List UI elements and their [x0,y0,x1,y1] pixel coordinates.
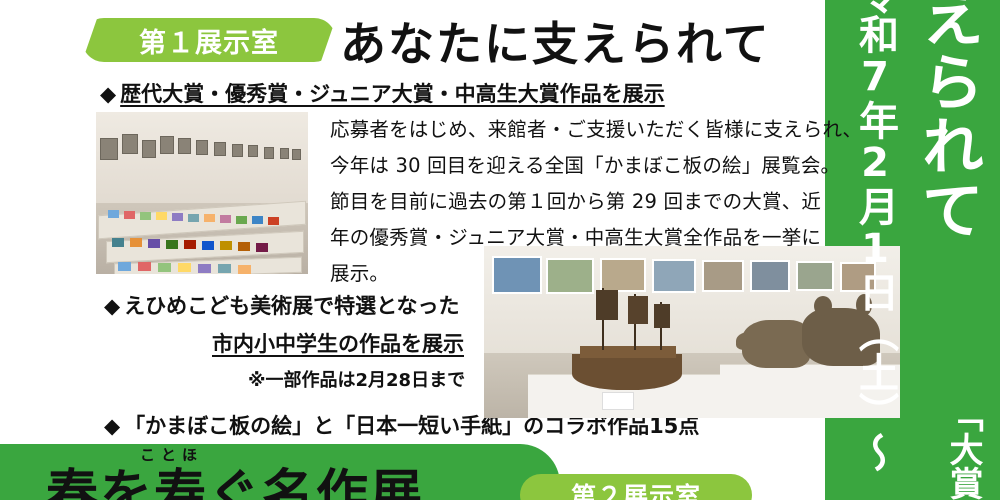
vertical-main-text: えられて [902,0,992,242]
diamond-bullet-icon: ◆ [104,414,120,438]
poster-root: あなたに支えられて 第１展示室 ◆歴代大賞・優秀賞・ジュニア大賞・中高生大賞作品… [0,0,1000,500]
gallery-long-room-photo [96,112,308,274]
diamond-bullet-icon: ◆ [104,294,120,318]
bullet-1: ◆歴代大賞・優秀賞・ジュニア大賞・中高生大賞作品を展示 [100,78,665,108]
bullet-2-label-2: 市内小中学生の作品を展示 [212,332,464,356]
gallery-sculpture-photo [484,246,900,418]
vertical-date-text: 令和7年2月1日（土）～ [846,0,904,472]
bullet-2-note: ※一部作品は2月28日まで [248,366,465,392]
bullet-2-label: えひめこども美術展で特選となった [124,294,459,318]
room2-badge: 第２展示室 [520,474,752,500]
bottom-title: 春を寿ぐ名作展 [46,452,424,500]
vertical-sub-text: 「大賞作 [939,398,988,500]
room1-badge: 第１展示室 [82,18,336,62]
diamond-bullet-icon: ◆ [100,82,116,106]
bullet-1-label: 歴代大賞・優秀賞・ジュニア大賞・中高生大賞作品を展示 [120,82,665,106]
page-title: あなたに支えられて [340,8,771,74]
room1-badge-label: 第１展示室 [139,21,279,60]
bullet-2: ◆えひめこども美術展で特選となった [104,290,460,320]
bullet-2-line2: 市内小中学生の作品を展示 [212,328,464,358]
room2-badge-label: 第２展示室 [571,477,701,500]
